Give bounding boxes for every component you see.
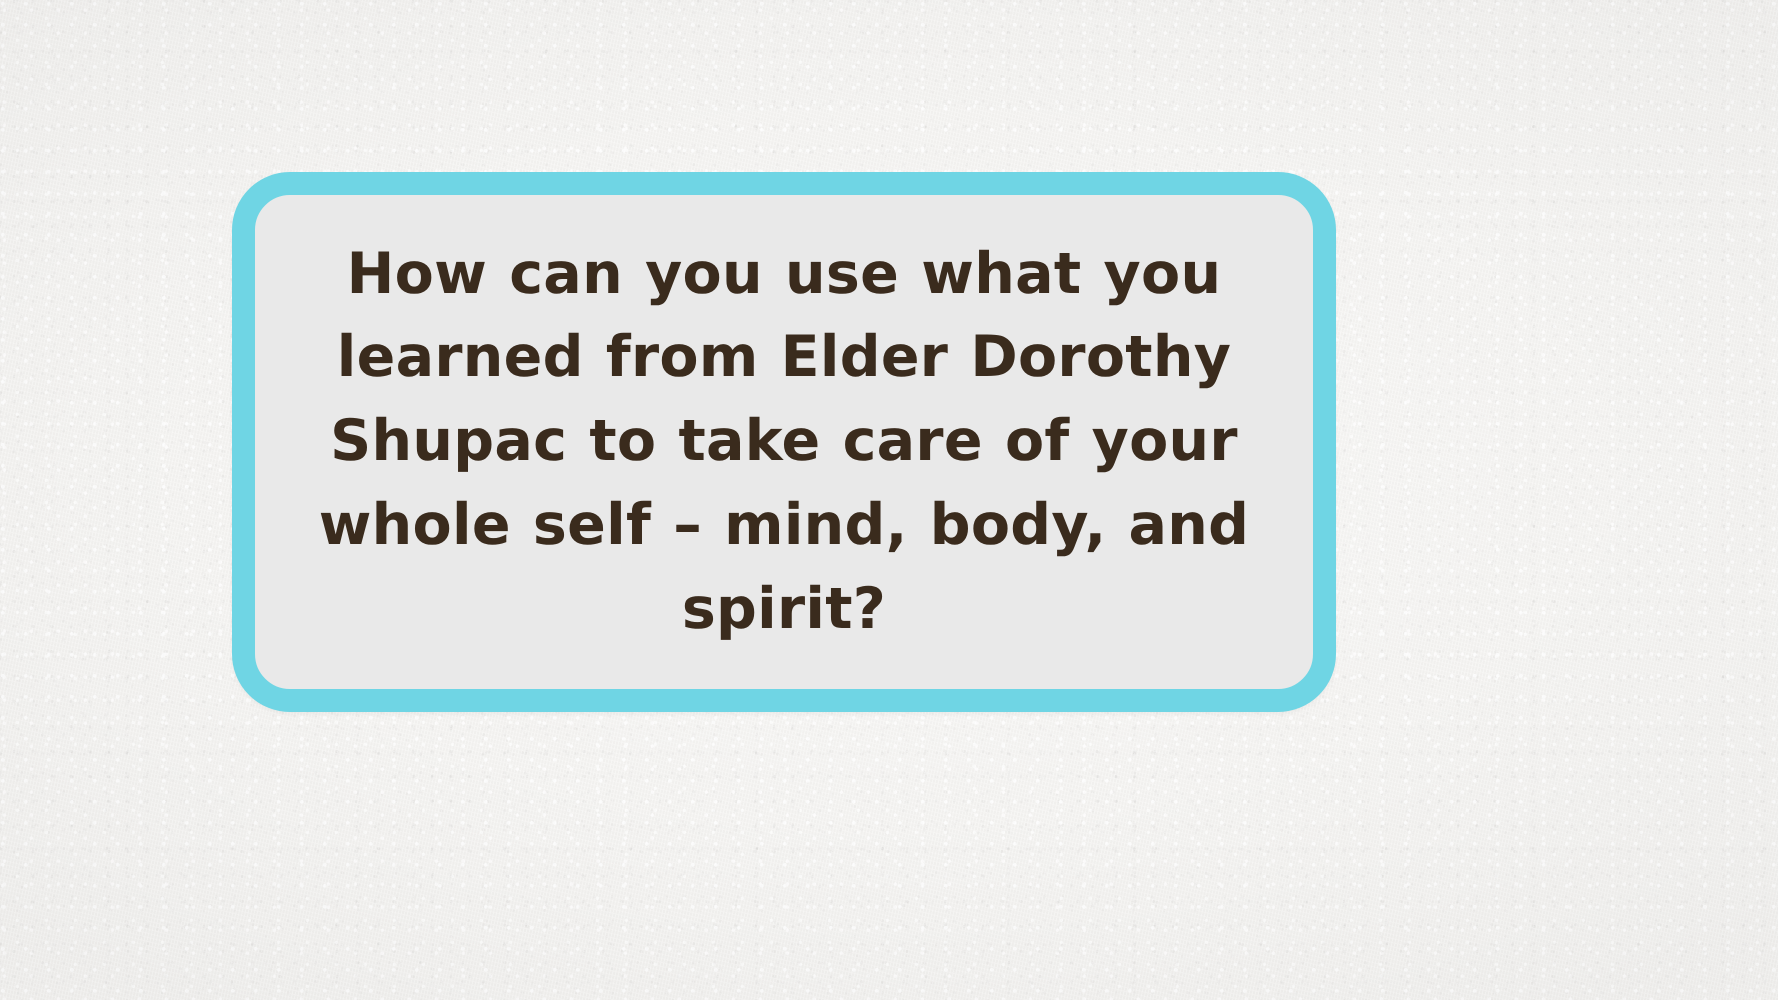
question-card: How can you use what you learned from El… bbox=[232, 172, 1336, 712]
slide-root: How can you use what you learned from El… bbox=[0, 0, 1778, 1000]
question-card-inner: How can you use what you learned from El… bbox=[255, 233, 1313, 652]
reflection-question-text: How can you use what you learned from El… bbox=[303, 233, 1265, 652]
